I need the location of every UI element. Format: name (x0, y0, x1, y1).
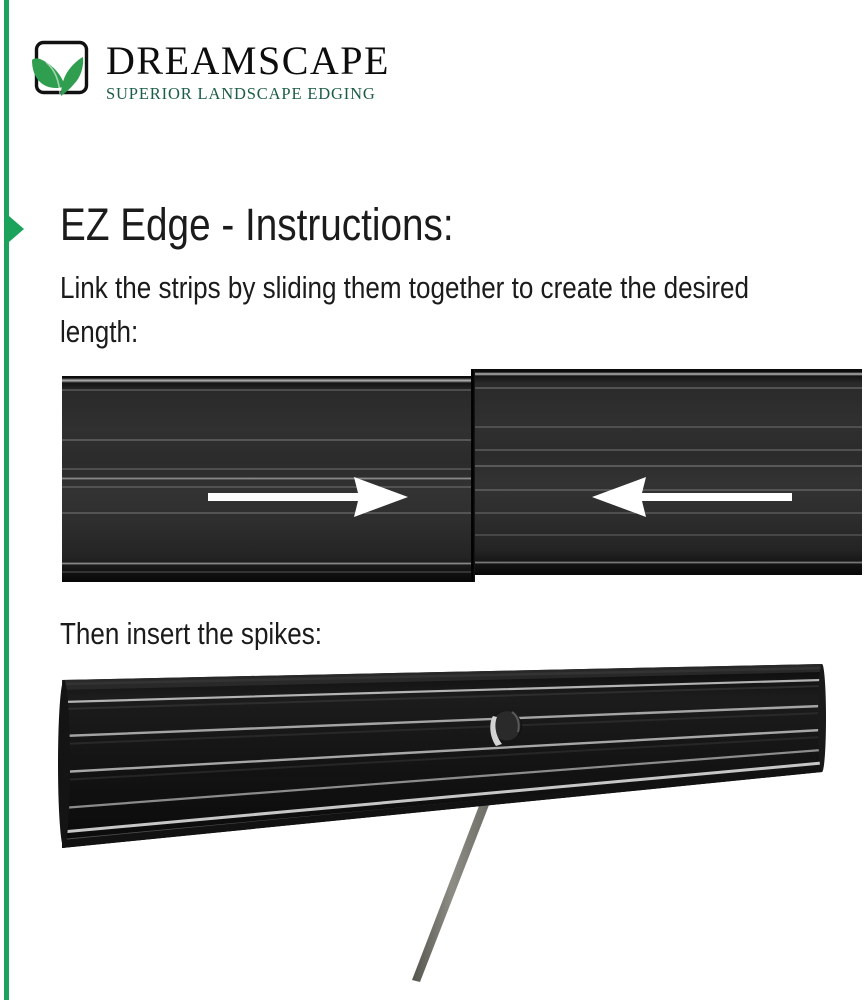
brand-name: DREAMSCAPE (106, 41, 390, 81)
edging-strip-right (473, 369, 862, 575)
brand-tagline: SUPERIOR LANDSCAPE EDGING (106, 84, 390, 103)
step-two-text: Then insert the spikes: (60, 614, 322, 654)
leaf-icon (30, 38, 92, 100)
figure-linking-strips (62, 369, 862, 582)
brand-logo: DREAMSCAPE SUPERIOR LANDSCAPE EDGING (30, 38, 390, 103)
instruction-page: DREAMSCAPE SUPERIOR LANDSCAPE EDGING EZ … (0, 0, 865, 1000)
figure-spike-insert (56, 650, 862, 1000)
arrow-right-icon (208, 477, 408, 522)
left-accent-rule (4, 0, 9, 1000)
page-title: EZ Edge - Instructions: (60, 200, 454, 250)
strip-seam (471, 369, 475, 582)
step-one-text: Link the strips by sliding them together… (60, 266, 782, 354)
triangle-right-marker-icon (9, 216, 24, 242)
arrow-left-icon (592, 477, 792, 522)
